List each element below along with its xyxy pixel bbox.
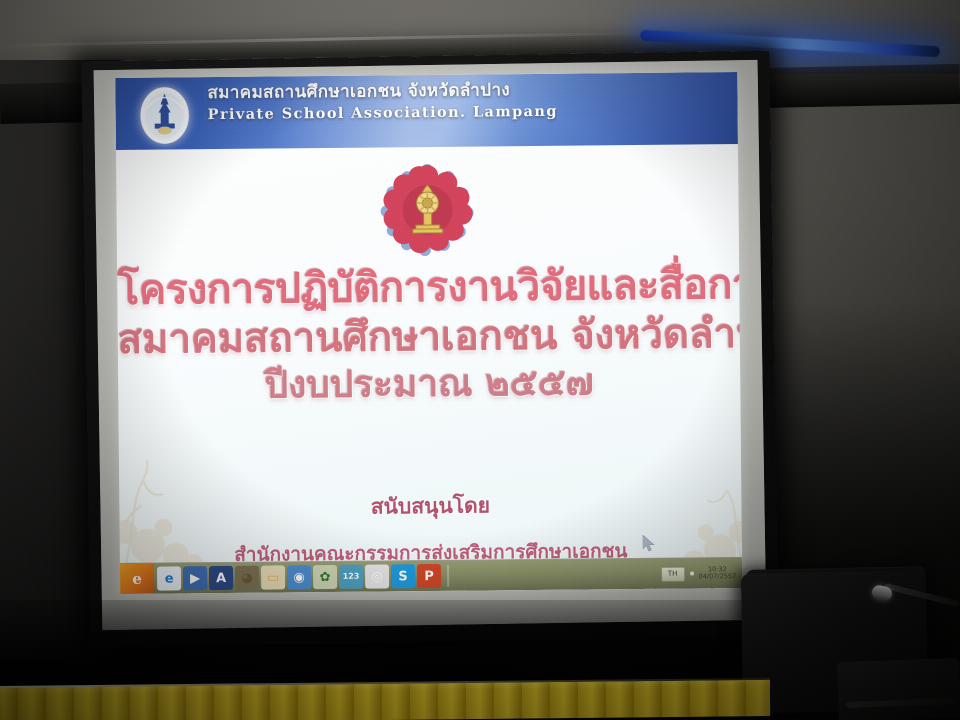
photo123-icon-glyph: 123 xyxy=(343,573,360,581)
powerpoint-slide: สมาคมสถานศึกษาเอกชน จังหวัดลำปาง Private… xyxy=(115,72,742,594)
slide-title-block: โครงการปฏิบัติการงานวิจัยและสื่อการสอน ส… xyxy=(117,262,740,407)
adobe-reader-icon[interactable]: A xyxy=(209,566,233,590)
floor-shadow xyxy=(0,600,820,690)
photoscape-icon[interactable]: ✿ xyxy=(313,565,337,589)
taskbar-separator xyxy=(447,565,449,587)
photo123-icon[interactable]: 123 xyxy=(339,565,363,589)
media-player-icon[interactable]: ▶ xyxy=(183,566,207,590)
slide-header-text: สมาคมสถานศึกษาเอกชน จังหวัดลำปาง Private… xyxy=(207,78,729,123)
taskbar-clock[interactable]: 10:32 04/07/2557 xyxy=(699,566,737,581)
start-orb-glyph: e xyxy=(132,570,142,588)
adobe-reader-icon-glyph: A xyxy=(216,571,226,584)
taskbar-items[interactable]: e▶A◕▭◉✿123◎SP xyxy=(154,562,661,591)
start-orb[interactable]: e xyxy=(120,564,154,594)
folder-explorer-icon-glyph: ▭ xyxy=(267,571,279,584)
google-chrome-icon-glyph: ◎ xyxy=(371,570,382,583)
media-player-icon-glyph: ▶ xyxy=(190,572,200,585)
slide-title-line-3: ปีงบประมาณ ๒๕๕๗ xyxy=(118,360,740,407)
powerpoint-icon-glyph: P xyxy=(424,569,434,582)
gold-stage-skirt xyxy=(0,680,770,720)
skype-icon[interactable]: S xyxy=(391,564,415,588)
photoscape-icon-glyph: ✿ xyxy=(320,570,331,583)
skype-icon-glyph: S xyxy=(398,570,407,583)
browser-globe-icon-glyph: ◉ xyxy=(293,571,304,584)
google-chrome-icon[interactable]: ◎ xyxy=(365,564,389,588)
clock-date: 04/07/2557 xyxy=(699,573,737,581)
projection-screen-frame: สมาคมสถานศึกษาเอกชน จังหวัดลำปาง Private… xyxy=(81,51,778,648)
internet-explorer-icon-glyph: e xyxy=(165,572,174,585)
slide-title-line-1: โครงการปฏิบัติการงานวิจัยและสื่อการสอน xyxy=(117,262,739,314)
firefox-icon[interactable]: ◕ xyxy=(235,566,259,590)
internet-explorer-icon[interactable]: e xyxy=(157,566,181,590)
language-indicator: TH xyxy=(661,566,685,581)
language-indicator-label: TH xyxy=(668,570,678,578)
support-by-label: สนับสนุนโดย xyxy=(119,487,741,526)
slide-title-line-2: สมาคมสถานศึกษาเอกชน จังหวัดลำปาง xyxy=(118,312,740,363)
browser-globe-icon[interactable]: ◉ xyxy=(287,565,311,589)
laptop-on-podium xyxy=(837,658,960,720)
tray-notification-dot[interactable] xyxy=(690,571,694,575)
system-tray[interactable]: TH 10:32 04/07/2557 xyxy=(661,566,743,582)
conference-room-scene: สมาคมสถานศึกษาเอกชน จังหวัดลำปาง Private… xyxy=(0,0,960,720)
private-school-association-lampang-emblem xyxy=(131,80,198,147)
projection-screen-surface: สมาคมสถานศึกษาเอกชน จังหวัดลำปาง Private… xyxy=(94,60,767,630)
mouse-cursor xyxy=(643,535,656,553)
ministry-of-education-sema-emblem xyxy=(379,163,476,260)
association-title-thai: สมาคมสถานศึกษาเอกชน จังหวัดลำปาง xyxy=(207,78,729,104)
firefox-icon-glyph: ◕ xyxy=(241,571,252,584)
powerpoint-icon[interactable]: P xyxy=(417,564,441,588)
folder-explorer-icon[interactable]: ▭ xyxy=(261,565,285,589)
windows-taskbar[interactable]: e e▶A◕▭◉✿123◎SP TH 10:32 04/07/2557 xyxy=(120,557,742,594)
